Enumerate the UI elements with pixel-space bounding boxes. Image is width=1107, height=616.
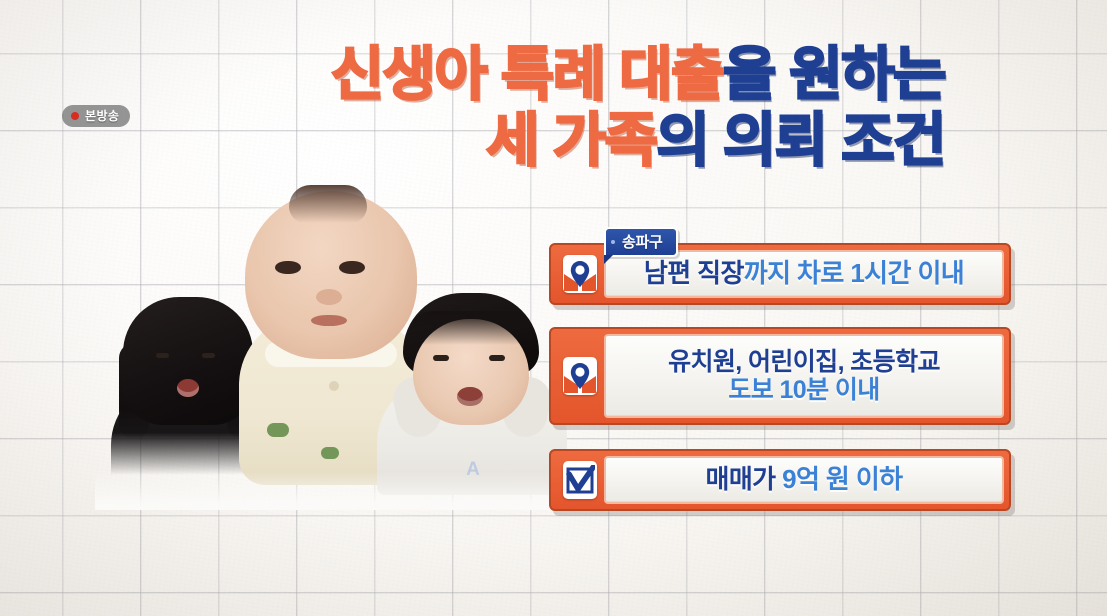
card-1-line-1-blue: 까지 차로 1시간 이내 [744,258,964,288]
map-pin-icon [563,255,597,293]
map-pin-icon [563,357,597,395]
card-text-panel: 남편 직장까지 차로 1시간 이내 [604,250,1004,298]
condition-card-price: 매매가 9억 원 이하 [549,449,1011,511]
condition-card-list: 남편 직장까지 차로 1시간 이내 유치원, 어린이집, 초등학교 [549,243,1011,511]
photo-bottom-fade [95,472,565,510]
card-line: 남편 직장까지 차로 1시간 이내 [644,259,964,288]
card-icon-slot [556,250,604,298]
card-2-line-1-navy: 유치원, 어린이집, 초등학교 [668,348,940,376]
baby-eye-left [275,261,301,274]
recording-dot-icon [71,112,79,120]
man-mouth [457,387,483,406]
man-fringe [407,311,535,345]
card-icon-slot [556,334,604,418]
condition-card-schools: 유치원, 어린이집, 초등학교 도보 10분 이내 [549,327,1011,425]
woman-eye-right [202,353,215,358]
checkbox-check-icon [563,461,597,499]
broadcast-graphic-screen: 본방송 신생아 특례 대출을 원하는 세 가족의 의뢰 조건 [0,0,1107,616]
card-3-line-1-navy: 매매가 [706,464,783,494]
card-line: 매매가 9억 원 이하 [706,465,903,494]
location-tag-label: 송파구 [622,235,663,250]
card-1-line-1-navy: 남편 직장 [644,258,744,288]
baby-eye-right [339,261,365,274]
broadcast-badge: 본방송 [62,105,130,127]
baby-mouth [311,315,347,326]
baby-bib-accent-2 [267,423,289,437]
baby-bib-snap [329,381,339,391]
card-3-line-1-blue: 9억 원 이하 [782,464,902,494]
card-text-panel: 유치원, 어린이집, 초등학교 도보 10분 이내 [604,334,1004,418]
woman-mouth [177,379,199,397]
card-2-line-2-blue: 도보 10분 이내 [728,376,879,404]
broadcast-badge-label: 본방송 [85,110,119,122]
card-line: 도보 10분 이내 [728,376,879,404]
man-cutout: A [377,293,567,493]
location-tag: 송파구 [604,227,678,257]
baby-hair [289,185,367,223]
family-photo-group: A [95,185,565,510]
woman-eye-left [156,353,169,358]
card-text-panel: 매매가 9억 원 이하 [604,456,1004,504]
man-eye-right [489,355,505,361]
tag-rivet-icon [611,240,615,244]
baby-nose [316,289,342,305]
card-line: 유치원, 어린이집, 초등학교 [668,348,940,376]
card-icon-slot [556,456,604,504]
baby-bib-accent-3 [321,447,339,459]
man-eye-left [433,355,449,361]
